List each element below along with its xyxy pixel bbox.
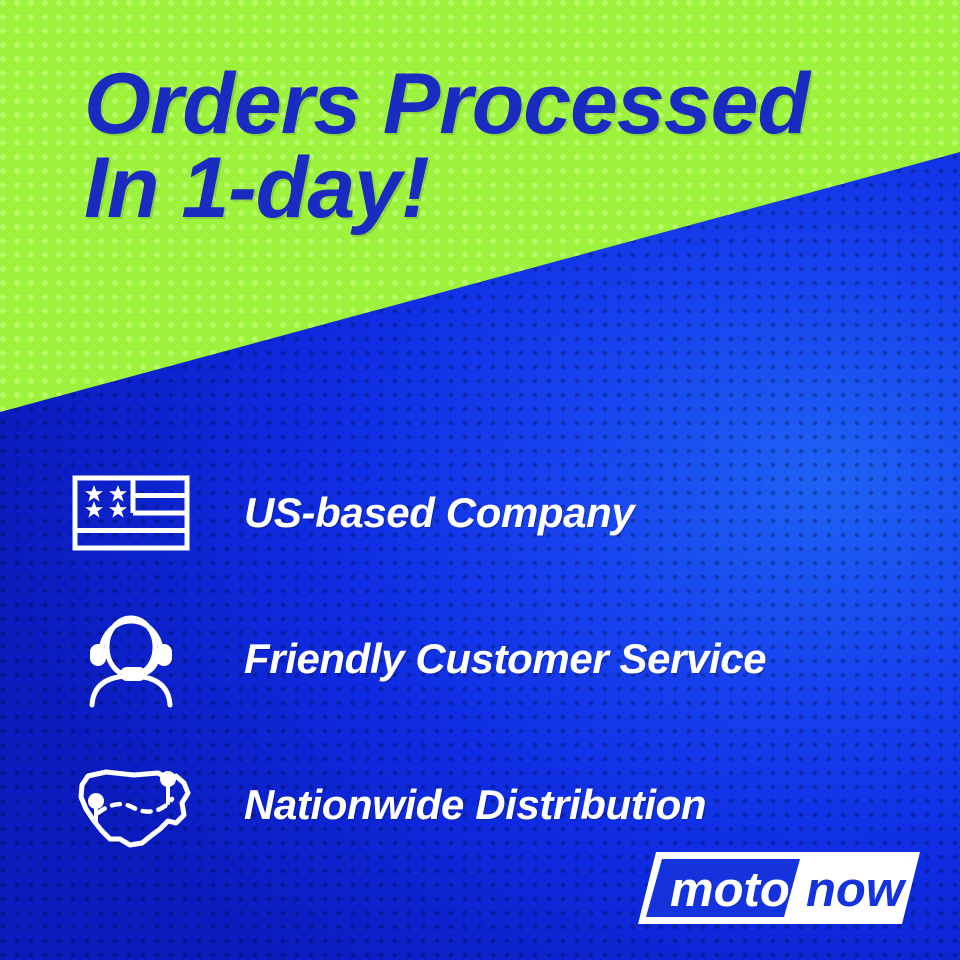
logo-text-moto: moto — [670, 863, 790, 917]
page-title: Orders Processed In 1-day! — [84, 62, 914, 231]
feature-label: Nationwide Distribution — [244, 781, 706, 829]
feature-item-customer-service: Friendly Customer Service — [72, 586, 912, 732]
headset-support-icon — [72, 609, 202, 709]
feature-label: Friendly Customer Service — [244, 635, 766, 683]
feature-item-us-based: US-based Company — [72, 440, 912, 586]
us-flag-icon — [72, 475, 202, 551]
promo-poster: Orders Processed In 1-day! — [0, 0, 960, 960]
feature-label: US-based Company — [244, 489, 634, 537]
us-map-route-icon — [72, 759, 202, 851]
logo-text-now: now — [806, 863, 907, 917]
feature-list: US-based Company — [72, 440, 912, 878]
motonow-logo[interactable]: moto now — [636, 850, 922, 926]
